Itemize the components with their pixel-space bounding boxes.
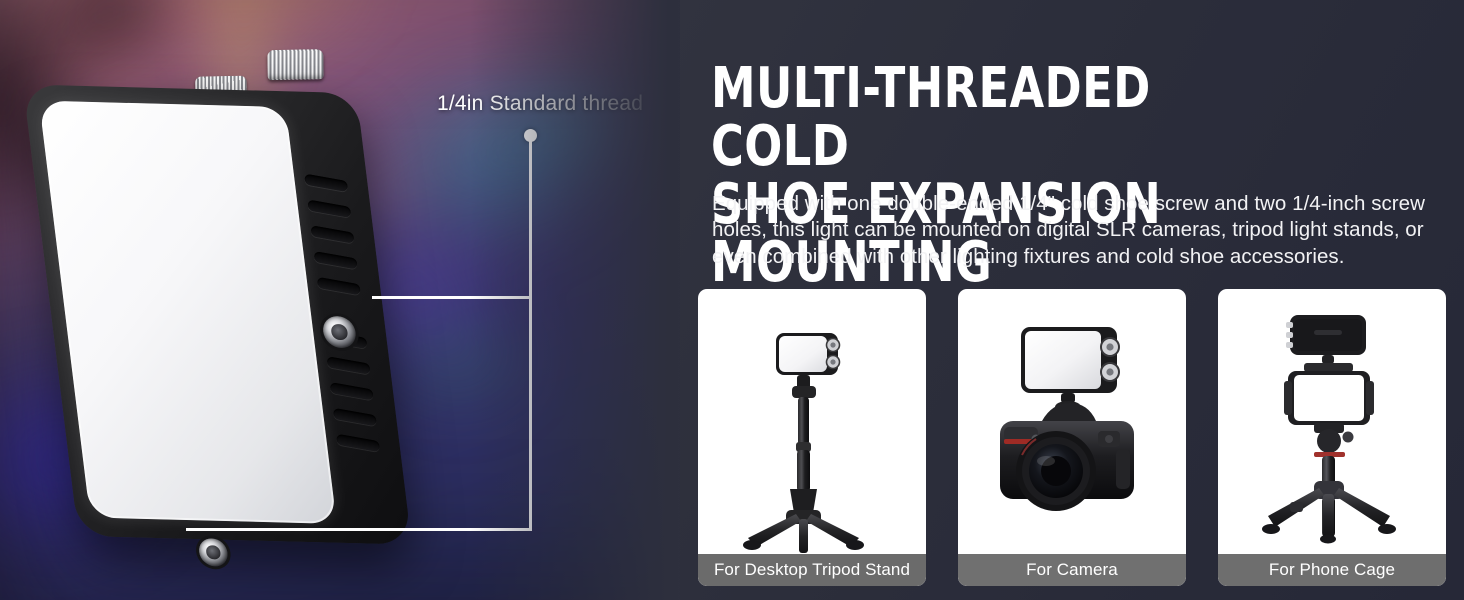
product-photo-scene: 1/4in Standard thread: [0, 0, 700, 600]
content-panel: MULTI-THREADED COLD SHOE EXPANSION MOUNT…: [680, 0, 1464, 600]
led-diffuser-panel: [39, 101, 337, 524]
led-video-light-product: [23, 39, 461, 582]
bottom-screw-hole: [197, 538, 229, 567]
phone-cage-illustration: [1218, 289, 1446, 586]
product-body: [23, 84, 412, 544]
card-caption: For Phone Cage: [1218, 554, 1446, 586]
card-caption: For Camera: [958, 554, 1186, 586]
card-caption: For Desktop Tripod Stand: [698, 554, 926, 586]
use-case-card-camera[interactable]: For Camera: [958, 289, 1186, 586]
photo-edge-fade: [470, 0, 700, 600]
tripod-stand-illustration: [698, 289, 926, 586]
headline-line-1: MULTI-THREADED COLD: [711, 56, 1151, 179]
use-case-card-phone-cage[interactable]: For Phone Cage: [1218, 289, 1446, 586]
dslr-camera-illustration: [958, 289, 1186, 586]
adjustment-knob-right: [267, 49, 324, 80]
body-copy: Equipped with one double-ended 1/4" cold…: [712, 191, 1428, 271]
use-case-card-list: For Desktop Tripod Stand: [698, 289, 1446, 586]
use-case-card-desktop-tripod[interactable]: For Desktop Tripod Stand: [698, 289, 926, 586]
product-feature-banner: 1/4in Standard thread MULTI-THREADED COL…: [0, 0, 1464, 600]
